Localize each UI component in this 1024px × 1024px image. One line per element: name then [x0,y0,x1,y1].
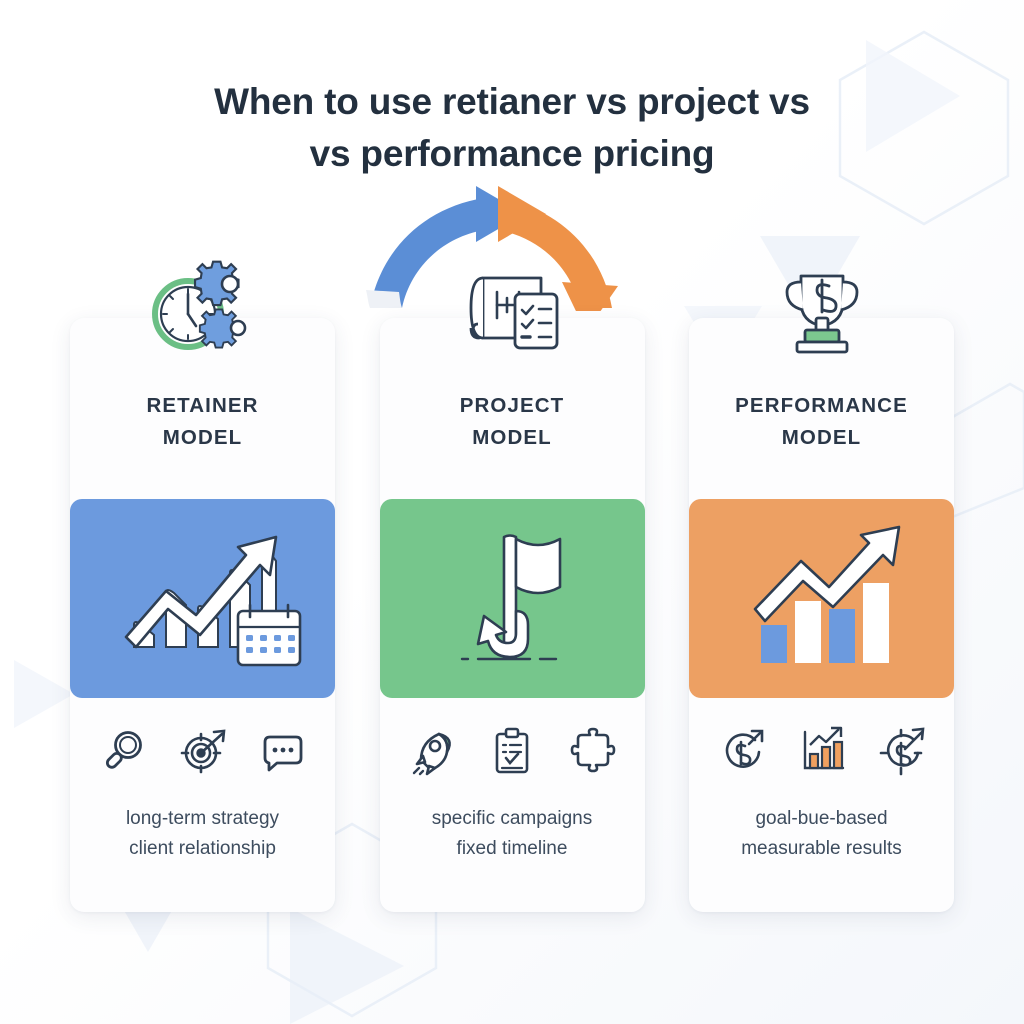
card-title-line-1: PROJECT [460,390,565,422]
speech-bubble-icon [258,726,308,776]
clipboard-checklist-icon [487,726,537,776]
mini-icon-row-project [380,726,645,776]
rocket-icon [407,726,457,776]
page-title-line-1: When to use retianer vs project vs [0,76,1024,128]
card-title-line-2: MODEL [146,422,258,454]
magnifier-icon [98,726,148,776]
card-caption-line-1: specific campaigns [380,804,645,834]
page-title: When to use retianer vs project vs vs pe… [0,76,1024,180]
orange-bar-chart-icon [797,726,847,776]
card-caption-line-2: fixed timeline [380,834,645,864]
model-cards-row: RETAINER MODEL [70,318,954,912]
puzzle-piece-icon [567,726,617,776]
card-project[interactable]: PROJECT MODEL [380,318,645,912]
card-caption-retainer: long-term strategy client relationship [70,804,335,864]
page-title-line-2: vs performance pricing [0,128,1024,180]
card-caption-project: specific campaigns fixed timeline [380,804,645,864]
clock-with-gears-icon [144,256,262,360]
dollar-growth-arrow-icon [717,726,767,776]
bar-chart-with-rising-arrow-illustration [689,499,954,698]
card-title-performance: PERFORMANCE MODEL [735,390,908,454]
dollar-target-arrow-icon [877,726,927,776]
card-caption-line-1: long-term strategy [70,804,335,834]
card-title-line-1: RETAINER [146,390,258,422]
card-title-retainer: RETAINER MODEL [146,390,258,454]
card-caption-line-1: goal-bue-based [689,804,954,834]
card-title-line-2: MODEL [460,422,565,454]
growth-chart-with-calendar-illustration [70,499,335,698]
blueprint-with-checklist-icon [453,256,571,360]
card-performance[interactable]: PERFORMANCE MODEL [689,318,954,912]
infographic-canvas: When to use retianer vs project vs vs pe… [0,0,1024,1024]
mini-icon-row-performance [689,726,954,776]
target-with-arrow-icon [178,726,228,776]
card-caption-line-2: client relationship [70,834,335,864]
card-title-line-1: PERFORMANCE [735,390,908,422]
card-title-project: PROJECT MODEL [460,390,565,454]
trophy-with-dollar-icon [763,256,881,360]
card-title-line-2: MODEL [735,422,908,454]
mini-icon-row-retainer [70,726,335,776]
card-caption-line-2: measurable results [689,834,954,864]
flag-with-curved-arrow-illustration [380,499,645,698]
card-caption-performance: goal-bue-based measurable results [689,804,954,864]
card-retainer[interactable]: RETAINER MODEL [70,318,335,912]
